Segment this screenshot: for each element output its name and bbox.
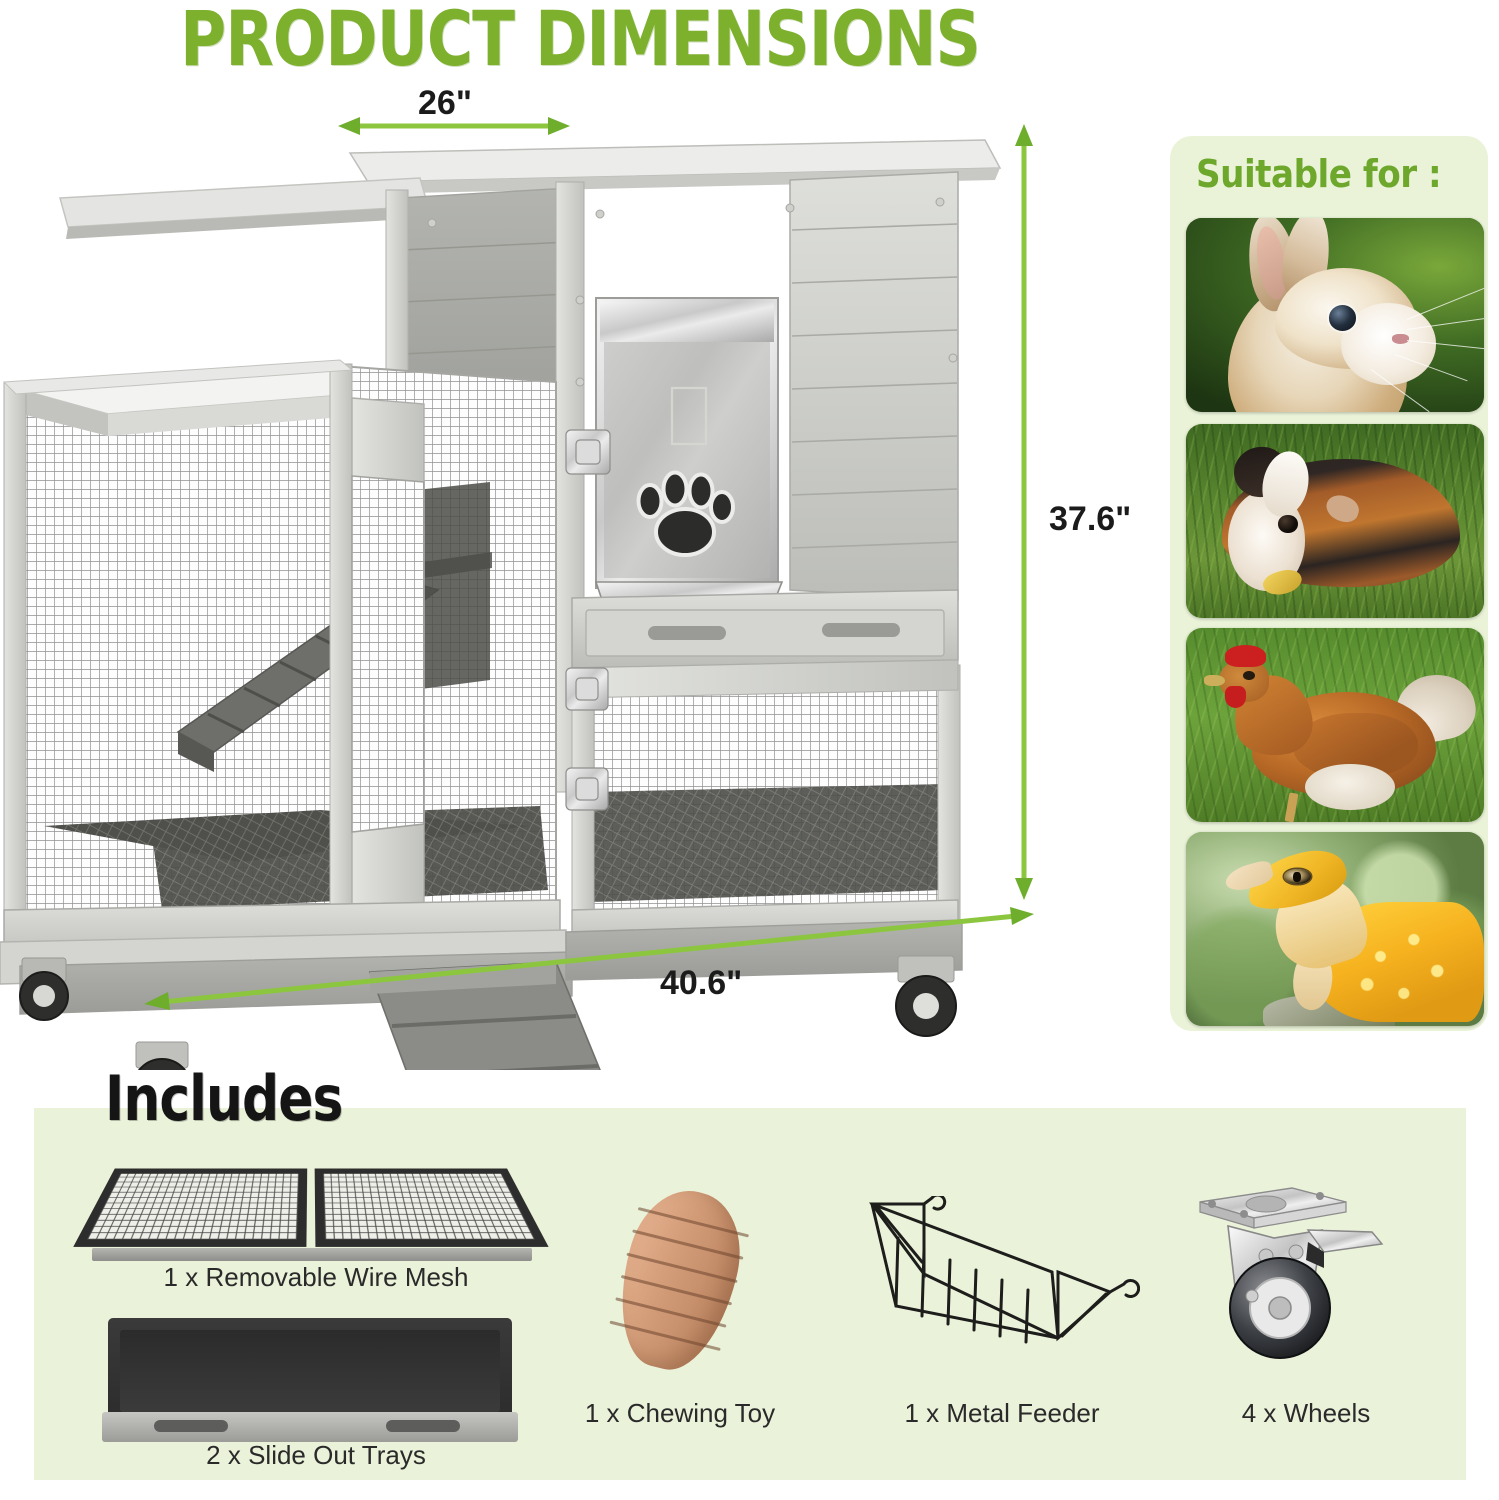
wire-mesh-base: [92, 1248, 532, 1261]
includes-caption-wheels: 4 x Wheels: [1186, 1398, 1426, 1429]
slide-out-tray-illustration: [108, 1318, 512, 1436]
animal-photo-gecko: [1186, 832, 1484, 1026]
dimension-arrow-width-bottom: [140, 898, 1038, 1016]
wire-mesh-illustration: [73, 1169, 549, 1248]
suitable-for-heading: Suitable for :: [1196, 152, 1476, 196]
animal-photo-guinea-pig: [1186, 424, 1484, 618]
metal-feeder-illustration: [862, 1196, 1140, 1366]
includes-caption-chewing-toy: 1 x Chewing Toy: [540, 1398, 820, 1429]
dimension-arrow-width-top: [336, 112, 572, 140]
animal-photo-chicken: [1186, 628, 1484, 822]
includes-caption-wire-mesh: 1 x Removable Wire Mesh: [86, 1262, 546, 1293]
dimension-arrow-height: [1010, 122, 1038, 902]
animal-photo-rabbit: [1186, 218, 1484, 412]
dimension-label-height: 37.6": [1049, 500, 1131, 539]
includes-caption-trays: 2 x Slide Out Trays: [86, 1440, 546, 1471]
wheel-caster-illustration: [1196, 1186, 1392, 1376]
includes-caption-metal-feeder: 1 x Metal Feeder: [862, 1398, 1142, 1429]
page-title: PRODUCT DIMENSIONS: [46, 0, 1113, 83]
includes-heading: Includes: [105, 1062, 342, 1135]
